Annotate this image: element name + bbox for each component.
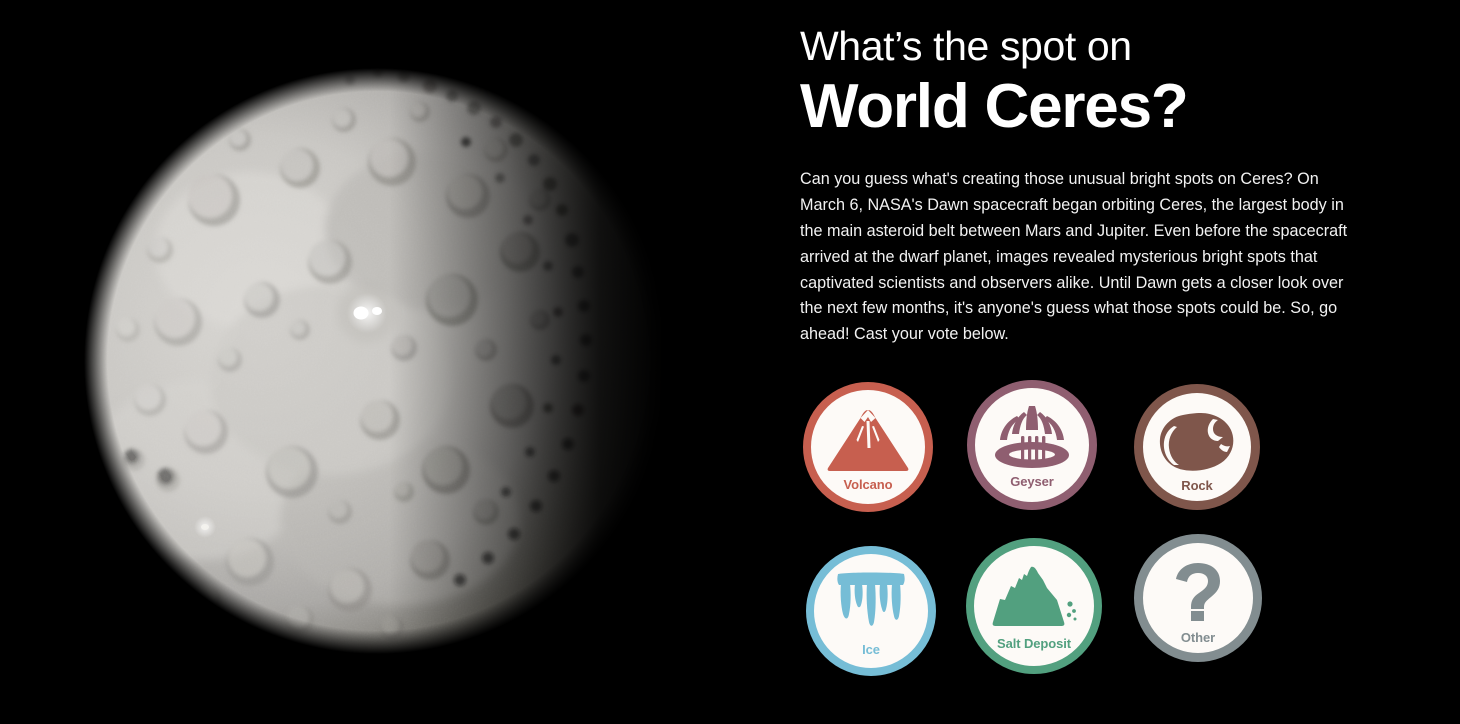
vote-option-salt-deposit[interactable]: Salt Deposit (966, 538, 1102, 674)
vote-option-ice[interactable]: Ice (806, 546, 936, 676)
salt-mound-icon (991, 566, 1077, 630)
article-content: What’s the spot on World Ceres? Can you … (800, 0, 1400, 724)
ceres-photograph (0, 0, 790, 724)
vote-option-label: Ice (862, 643, 880, 656)
geyser-icon (991, 406, 1073, 468)
icicles-icon (834, 572, 908, 634)
vote-option-label: Other (1181, 631, 1215, 644)
article-paragraph: Can you guess what's creating those unus… (800, 167, 1360, 348)
vote-option-label: Volcano (844, 478, 893, 491)
headline-line-2: World Ceres? (800, 72, 1400, 141)
vote-option-rock[interactable]: Rock (1134, 384, 1260, 510)
vote-options-grid: Volcano (803, 378, 1283, 688)
vote-option-geyser[interactable]: Geyser (967, 380, 1097, 510)
vote-option-label: Salt Deposit (997, 637, 1071, 650)
rock-icon (1157, 413, 1237, 471)
bright-spot-group (337, 283, 397, 343)
vote-option-label: Geyser (1010, 475, 1054, 488)
volcano-icon (825, 408, 911, 472)
headline-line-1: What’s the spot on (800, 24, 1400, 70)
vote-option-label: Rock (1181, 479, 1212, 492)
vote-option-other[interactable]: Other (1134, 534, 1262, 662)
ceres-image-panel (0, 0, 790, 724)
vote-option-volcano[interactable]: Volcano (803, 382, 933, 512)
page-title: What’s the spot on World Ceres? (800, 0, 1400, 141)
question-mark-icon (1175, 563, 1221, 621)
